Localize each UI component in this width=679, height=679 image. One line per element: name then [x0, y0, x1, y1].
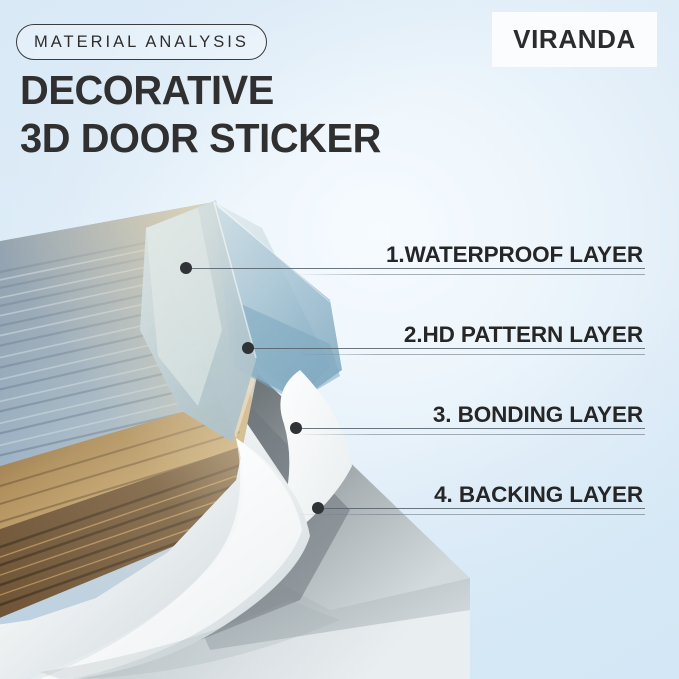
callout-label-4: 4. BACKING LAYER: [300, 482, 645, 515]
brand-name: VIRANDA: [513, 24, 636, 55]
callout-dot-2: [242, 342, 254, 354]
callout-4-text: 4. BACKING LAYER: [300, 482, 645, 508]
callout-dot-4: [312, 502, 324, 514]
callout-1-text: 1.WATERPROOF LAYER: [300, 242, 645, 268]
badge-label: MATERIAL ANALYSIS: [34, 33, 249, 52]
callout-label-1: 1.WATERPROOF LAYER: [300, 242, 645, 275]
leader-line-1: [186, 268, 645, 269]
callout-2-text: 2.HD PATTERN LAYER: [300, 322, 645, 348]
callout-4-rule: [300, 514, 645, 515]
callout-dot-1: [180, 262, 192, 274]
title-line-2: 3D DOOR STICKER: [20, 114, 381, 162]
leader-line-4: [318, 508, 645, 509]
callout-3-rule: [300, 434, 645, 435]
callout-dot-3: [290, 422, 302, 434]
callout-label-3: 3. BONDING LAYER: [300, 402, 645, 435]
title-line-1: DECORATIVE: [20, 66, 381, 114]
callout-3-text: 3. BONDING LAYER: [300, 402, 645, 428]
material-analysis-badge: MATERIAL ANALYSIS: [16, 24, 267, 60]
infographic-canvas: MATERIAL ANALYSIS DECORATIVE 3D DOOR STI…: [0, 0, 679, 679]
callout-1-rule: [300, 274, 645, 275]
leader-line-3: [296, 428, 645, 429]
brand-logo: VIRANDA: [492, 12, 657, 67]
callout-2-rule: [300, 354, 645, 355]
leader-line-2: [248, 348, 645, 349]
callout-label-2: 2.HD PATTERN LAYER: [300, 322, 645, 355]
page-title: DECORATIVE 3D DOOR STICKER: [20, 66, 381, 162]
